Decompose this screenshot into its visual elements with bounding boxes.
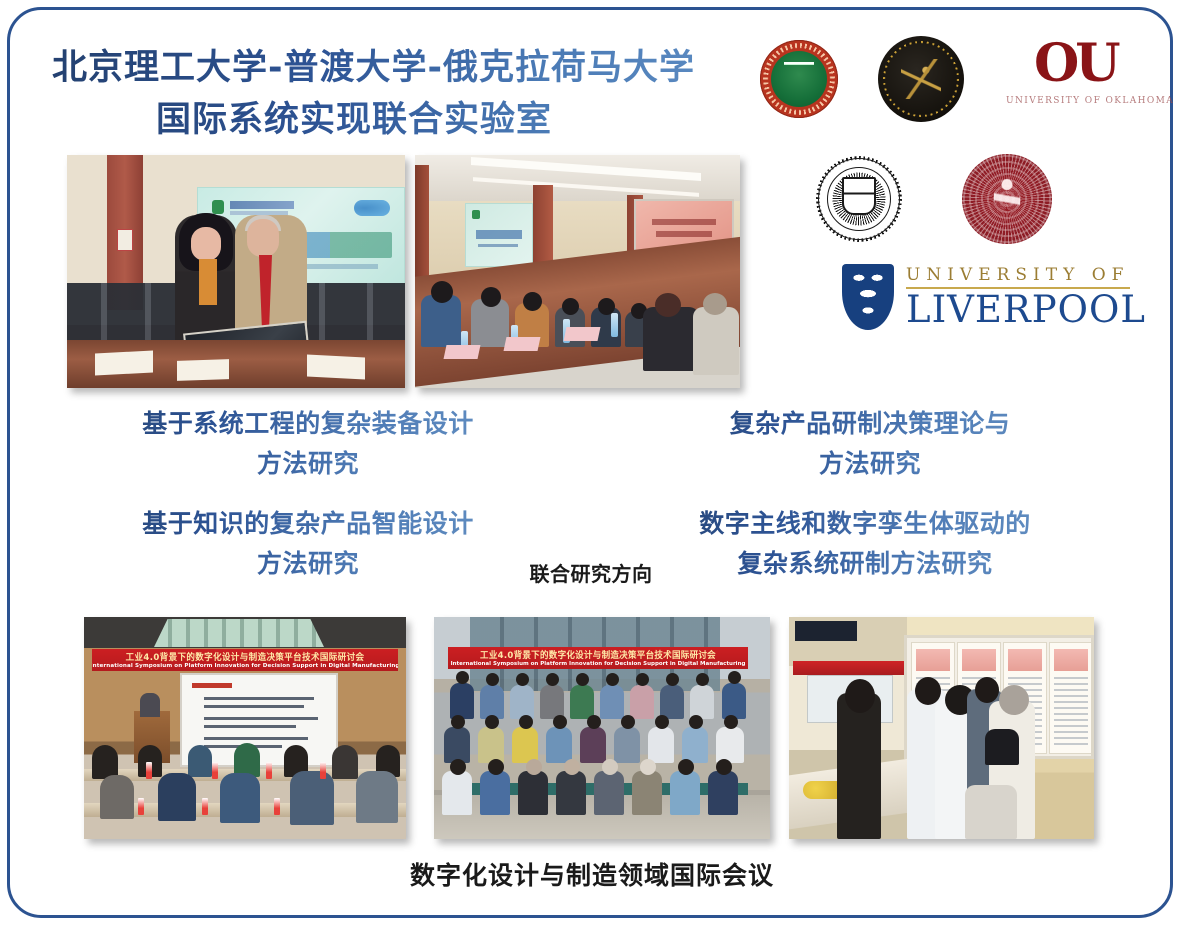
seal-black-logo	[816, 156, 902, 242]
research-direction-2-line1: 复杂产品研制决策理论与	[640, 404, 1100, 444]
photo-group-head	[716, 759, 732, 775]
photo-audience-head	[100, 775, 134, 819]
photo-group-person	[478, 727, 504, 763]
photo-attendee-head	[703, 293, 727, 315]
photo-attendee	[693, 307, 739, 375]
poster-photo-content	[789, 617, 1094, 839]
research-direction-4: 数字主线和数字孪生体驱动的 复杂系统研制方法研究	[630, 504, 1100, 584]
photo-group-person	[510, 685, 534, 719]
photo-conference-banner-en: International Symposium on Platform Inno…	[92, 663, 398, 669]
photo-group-head	[488, 759, 504, 775]
photo-attendee-head	[655, 293, 681, 317]
photo-group-head	[546, 673, 559, 686]
photo-attendee-head	[562, 298, 579, 315]
photo-group-person	[670, 771, 700, 815]
photo-group-head	[486, 673, 499, 686]
photo-group-head	[728, 671, 741, 684]
photo-conference-banner-en: International Symposium on Platform Inno…	[451, 661, 746, 667]
photo-group-head	[655, 715, 669, 729]
photo-water-bottle	[146, 762, 152, 779]
research-direction-1-line1: 基于系统工程的复杂装备设计	[68, 404, 548, 444]
photo-group-person	[600, 685, 624, 719]
photo-name-card	[564, 327, 601, 341]
photo-group-head	[516, 673, 529, 686]
group-photo-content: 工业4.0背景下的数字化设计与制造决策平台技术国际研讨会 Internation…	[434, 617, 770, 839]
research-direction-3: 基于知识的复杂产品智能设计 方法研究	[66, 504, 550, 584]
liverpool-logo-text: UNIVERSITY OF LIVERPOOL	[906, 264, 1130, 331]
liverpool-logo-shield	[842, 264, 894, 330]
bottom-caption: 数字化设计与制造领域国际会议	[292, 856, 892, 892]
photo-audience-head	[356, 771, 398, 823]
slide-canvas: 北京理工大学-普渡大学-俄克拉荷马大学 国际系统实现联合实验室 OU UNIVE…	[0, 0, 1184, 929]
photo-water-bottle	[320, 762, 326, 779]
photo-group-person	[648, 727, 674, 763]
photo-group-person	[556, 771, 586, 815]
photo-conference-banner-cn: 工业4.0背景下的数字化设计与制造决策平台技术国际研讨会	[480, 649, 716, 662]
seal-black-logo-shield	[842, 177, 876, 215]
research-direction-1: 基于系统工程的复杂装备设计 方法研究	[68, 404, 548, 484]
photo-audience-head	[158, 773, 196, 821]
photo-audience-head	[290, 771, 334, 825]
symposium-photo-content: 工业4.0背景下的数字化设计与制造决策平台技术国际研讨会 Internation…	[84, 617, 406, 839]
photo-slide-line	[204, 697, 314, 700]
research-direction-1-line2: 方法研究	[68, 444, 548, 484]
photo-group-person	[546, 727, 572, 763]
photo-group-head	[602, 759, 618, 775]
photo-group-head	[666, 673, 679, 686]
photo-banner-logo	[212, 200, 224, 214]
photo-group-person	[708, 771, 738, 815]
photo-group-head	[587, 715, 601, 729]
liverpool-logo: UNIVERSITY OF LIVERPOOL	[842, 262, 1130, 334]
photo-red-banner	[793, 661, 907, 675]
photo-group-person	[540, 685, 564, 719]
title-line-2: 国际系统实现联合实验室	[44, 94, 754, 146]
photo-audience-head	[234, 743, 260, 777]
photo-group-person	[722, 683, 746, 719]
photo-group-person	[690, 685, 714, 719]
photo-person-right-face	[247, 219, 279, 257]
photo-group-person	[614, 727, 640, 763]
photo-group-head	[450, 759, 466, 775]
photo-attendees	[415, 255, 740, 365]
photo-group-head	[678, 759, 694, 775]
photo-name-card	[504, 337, 541, 351]
photo-group-head	[724, 715, 738, 729]
photo-conference-banner-cn: 工业4.0背景下的数字化设计与制造决策平台技术国际研讨会	[126, 651, 365, 664]
photo-wall-display	[795, 621, 857, 641]
bit-logo	[760, 40, 838, 118]
photo-group-head	[456, 671, 469, 684]
meeting-photo-content	[415, 155, 740, 388]
photo-group-head	[621, 715, 635, 729]
photo-group-person	[570, 685, 594, 719]
photo-group-head	[564, 759, 580, 775]
photo-name-card	[95, 350, 153, 375]
photo-group-person	[450, 683, 474, 719]
photo-audience-head	[332, 745, 358, 779]
research-direction-3-line2: 方法研究	[66, 544, 550, 584]
oklahoma-logo: OU UNIVERSITY OF OKLAHOMA	[1006, 36, 1130, 126]
photo-speaker	[140, 693, 160, 717]
liverpool-logo-top-text: UNIVERSITY OF	[906, 264, 1130, 289]
poster-session-photo	[789, 617, 1094, 839]
photo-attendee-head	[431, 281, 453, 303]
photo-banner-logo-secondary	[354, 200, 390, 216]
photo-person-left-shirt	[199, 259, 217, 305]
group-photo: 工业4.0背景下的数字化设计与制造决策平台技术国际研讨会 Internation…	[434, 617, 770, 839]
photo-visitor-head	[999, 685, 1029, 715]
photo-audience	[84, 735, 406, 839]
photo-conference-banner: 工业4.0背景下的数字化设计与制造决策平台技术国际研讨会 Internation…	[448, 647, 748, 669]
photo-group-head	[606, 673, 619, 686]
photo-group-person	[716, 727, 744, 763]
photo-group-head	[636, 673, 649, 686]
research-direction-2-line2: 方法研究	[640, 444, 1100, 484]
photo-group-person	[660, 685, 684, 719]
photo-audience-head	[220, 773, 260, 823]
photo-group-person	[444, 727, 470, 763]
photo-water-bottle	[202, 798, 208, 815]
photo-attendee-head	[481, 287, 501, 307]
photo-conference-banner: 工业4.0背景下的数字化设计与制造决策平台技术国际研讨会 Internation…	[92, 649, 398, 671]
photo-group-row-back	[434, 679, 770, 719]
photo-group-person	[682, 727, 708, 763]
research-direction-2: 复杂产品研制决策理论与 方法研究	[640, 404, 1100, 484]
photo-slide-line	[204, 705, 304, 708]
photo-visitor	[837, 693, 881, 839]
photo-group-person	[518, 771, 548, 815]
photo-group-person	[632, 771, 662, 815]
photo-group-head	[696, 673, 709, 686]
photo-water-bottle	[138, 798, 144, 815]
photo-group-person	[580, 727, 606, 763]
research-direction-3-line1: 基于知识的复杂产品智能设计	[66, 504, 550, 544]
photo-slide-title-bar	[192, 683, 232, 688]
photo-group-head	[485, 715, 499, 729]
title-line-1: 北京理工大学-普渡大学-俄克拉荷马大学	[44, 42, 754, 94]
bit-logo-inner-disc	[771, 51, 827, 107]
research-direction-4-line2: 复杂系统研制方法研究	[630, 544, 1100, 584]
photo-group-person	[512, 727, 538, 763]
photo-wall-sign	[117, 229, 133, 251]
photo-visitor-head	[845, 679, 875, 713]
photo-slide-line	[204, 717, 318, 720]
photo-group-head	[689, 715, 703, 729]
handshake-photo-content	[67, 155, 405, 388]
photo-group-person	[480, 685, 504, 719]
liverpool-logo-bottom-text: LIVERPOOL	[906, 289, 1130, 331]
oklahoma-logo-wordmark: UNIVERSITY OF OKLAHOMA	[1006, 96, 1130, 106]
photo-group-head	[519, 715, 533, 729]
meeting-photo	[415, 155, 740, 388]
photo-group-person	[442, 771, 472, 815]
purdue-logo-glyph	[901, 59, 941, 99]
photo-group-head	[576, 673, 589, 686]
symposium-hall-photo: 工业4.0背景下的数字化设计与制造决策平台技术国际研讨会 Internation…	[84, 617, 406, 839]
photo-group-head	[640, 759, 656, 775]
photo-visitor-head	[975, 677, 999, 703]
photo-attendee-head	[523, 292, 542, 311]
seal-crimson-logo-figure	[994, 179, 1020, 219]
photo-water-bottle	[611, 313, 618, 337]
photo-poster-panel	[1049, 642, 1093, 754]
slide-title: 北京理工大学-普渡大学-俄克拉荷马大学 国际系统实现联合实验室	[44, 42, 754, 146]
photo-group-head	[451, 715, 465, 729]
photo-water-bottle	[274, 798, 280, 815]
oklahoma-logo-mark: OU	[1034, 36, 1117, 92]
photo-visitor	[965, 785, 1017, 839]
photo-group-head	[553, 715, 567, 729]
photo-group-person	[594, 771, 624, 815]
joint-research-label: 联合研究方向	[496, 558, 686, 587]
photo-name-card	[177, 359, 229, 381]
bit-logo-emblem	[784, 62, 814, 96]
photo-skylight	[154, 619, 324, 647]
photo-slide-line	[204, 725, 296, 728]
photo-water-bottle	[212, 762, 218, 779]
research-direction-4-line1: 数字主线和数字孪生体驱动的	[630, 504, 1100, 544]
photo-group-person	[480, 771, 510, 815]
photo-group-row-middle	[434, 721, 770, 763]
photo-audience-head	[92, 745, 118, 779]
photo-group-row-front	[434, 763, 770, 815]
photo-group-person	[630, 685, 654, 719]
photo-person-left-face	[191, 227, 221, 261]
photo-name-card	[444, 345, 481, 359]
photo-name-card	[307, 354, 365, 379]
handshake-photo	[67, 155, 405, 388]
photo-water-bottle	[266, 762, 272, 779]
seal-crimson-logo	[962, 154, 1052, 244]
photo-banner-title	[230, 201, 294, 209]
photo-group-head	[526, 759, 542, 775]
photo-arm-sling	[985, 729, 1019, 765]
purdue-logo	[878, 36, 964, 122]
photo-audience-head	[188, 745, 212, 777]
